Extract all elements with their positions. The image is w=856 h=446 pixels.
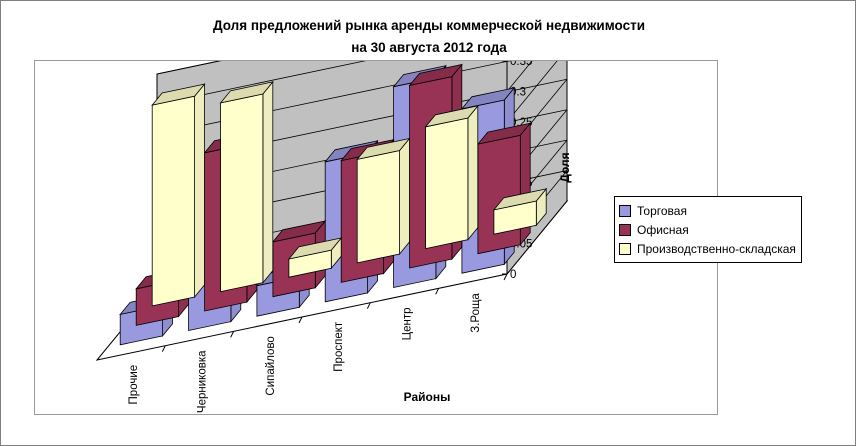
bar-1-5 bbox=[478, 123, 530, 254]
bar-side-face bbox=[263, 82, 273, 283]
legend-swatch-torgovaya bbox=[619, 205, 631, 217]
legend-label: Производственно-складская bbox=[637, 243, 796, 255]
category-axis-label: Сипайлово bbox=[265, 336, 277, 395]
category-axis-label: Черниковка bbox=[197, 350, 209, 413]
bar-front-face bbox=[152, 96, 194, 306]
category-axis-label: Проспект bbox=[333, 321, 345, 372]
chart-title-line2: на 30 августа 2012 года bbox=[1, 37, 856, 59]
bar-side-face bbox=[195, 84, 205, 297]
value-axis-tick-label: 0.35 bbox=[510, 61, 532, 68]
category-axis-label: З.Роща bbox=[470, 293, 482, 333]
category-axis-label: Прочие bbox=[128, 365, 140, 405]
bar-front-face bbox=[426, 118, 468, 249]
legend-item[interactable]: Производственно-складская bbox=[619, 239, 796, 258]
legend-swatch-ofisnaya bbox=[619, 224, 631, 236]
chart-legend: Торговая Офисная Производственно-складск… bbox=[614, 196, 802, 263]
bar-front-face bbox=[478, 135, 520, 253]
bar-front-face bbox=[221, 94, 263, 292]
legend-label: Офисная bbox=[637, 224, 689, 236]
legend-label: Торговая bbox=[637, 205, 687, 217]
chart-title: Доля предложений рынка аренды коммерческ… bbox=[1, 15, 856, 59]
value-axis-tick-label: 0 bbox=[510, 269, 516, 281]
bar-2-0 bbox=[152, 84, 204, 306]
chart-window: Доля предложений рынка аренды коммерческ… bbox=[0, 0, 856, 446]
value-axis-title: Доля bbox=[558, 152, 572, 182]
bar-side-face bbox=[468, 106, 478, 240]
category-axis-title: Районы bbox=[404, 390, 451, 404]
bar-2-3 bbox=[357, 139, 409, 263]
bar-2-1 bbox=[221, 82, 273, 292]
legend-item[interactable]: Офисная bbox=[619, 220, 796, 239]
bar-2-4 bbox=[426, 106, 478, 249]
legend-swatch-proizvodstvenno-skladskaya bbox=[619, 243, 631, 255]
chart-title-line1: Доля предложений рынка аренды коммерческ… bbox=[1, 15, 856, 37]
bar-side-face bbox=[400, 139, 410, 255]
legend-item[interactable]: Торговая bbox=[619, 201, 796, 220]
bar-front-face bbox=[357, 151, 399, 263]
category-axis-label: Центр bbox=[402, 308, 414, 341]
